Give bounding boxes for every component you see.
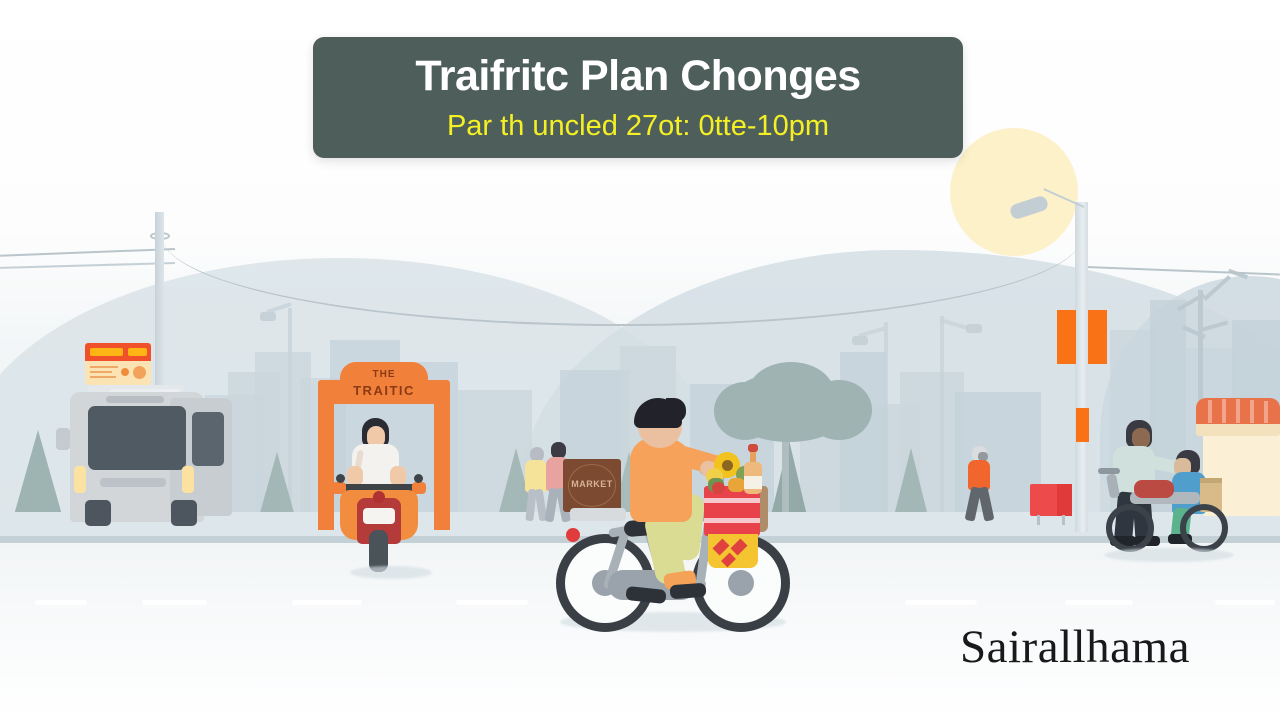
announcement-banner: Traifritc Plan Chonges Par th uncled 27o… [313, 37, 963, 158]
banner-subtitle: Par th uncled 27ot: 0tte-10pm [447, 112, 829, 141]
motorbike-shadow [1104, 548, 1234, 562]
banner-title: Traifritc Plan Chonges [415, 55, 860, 98]
scooter-shadow [350, 566, 432, 579]
scene-canvas: THE TRAITIC [0, 0, 1280, 720]
arch-sign-line2: TRAITIC [318, 383, 450, 398]
market-sign-label: MARKET [563, 479, 621, 489]
brand-logo: Sairallhama [960, 620, 1230, 674]
street-lamp-pole [1075, 202, 1088, 532]
arch-sign-line1: THE [318, 369, 450, 380]
